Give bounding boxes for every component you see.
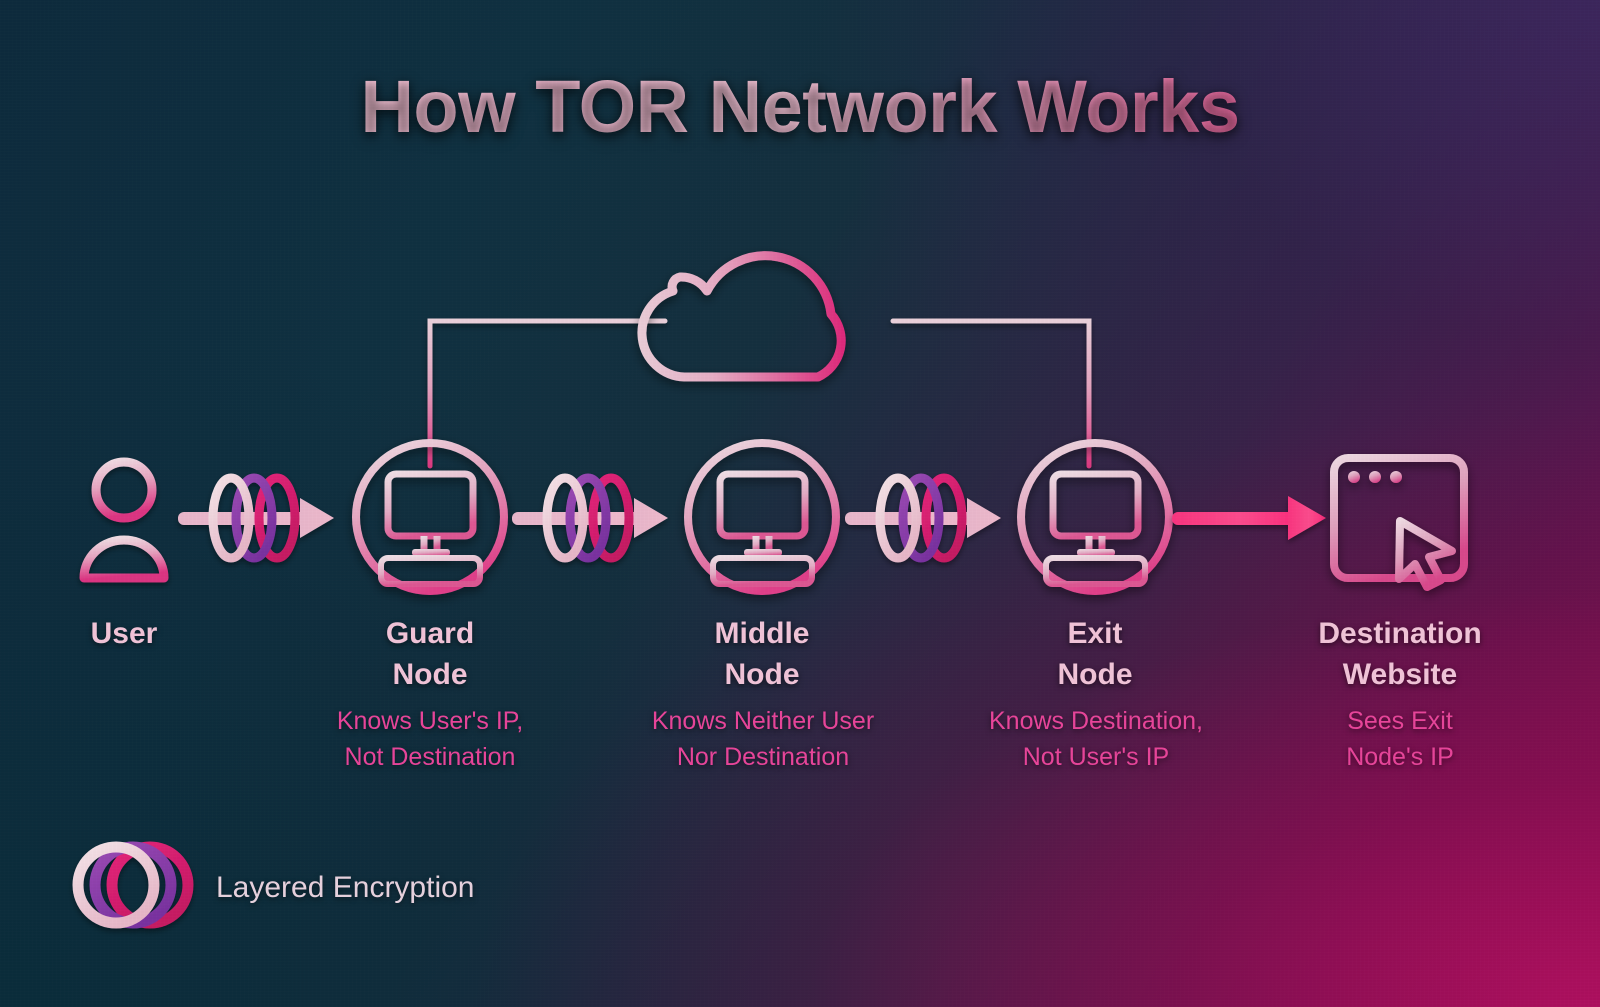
browser-dot-icon: [1348, 471, 1360, 483]
stage-label-guard-node: Guard Node: [300, 613, 560, 695]
stage-label-exit-node: Exit Node: [965, 613, 1225, 695]
stage-desc-middle-node: Knows Neither User Nor Destination: [604, 703, 922, 775]
stage-label-middle-node: Middle Node: [632, 613, 892, 695]
legend-icon-spacer: [78, 848, 196, 928]
legend: Layered Encryption: [78, 848, 475, 928]
browser-dot-icon: [1369, 471, 1381, 483]
stage-desc-guard-node: Knows User's IP, Not Destination: [280, 703, 580, 775]
person-icon: [84, 462, 164, 578]
encryption-arrow-user-to-guard: [178, 478, 334, 558]
browser-window-cursor-icon: [1334, 458, 1464, 587]
desktop-computer-icon: [1046, 474, 1145, 584]
stage-desc-destination-website: Sees Exit Node's IP: [1272, 703, 1528, 775]
exit-to-destination-arrow: [1172, 496, 1326, 540]
stage-label-destination-website: Destination Website: [1272, 613, 1528, 695]
desktop-computer-icon: [713, 474, 812, 584]
encryption-arrow-guard-to-middle: [512, 478, 668, 558]
node-exit[interactable]: [1021, 443, 1169, 591]
encryption-arrow-middle-to-exit: [845, 478, 1001, 558]
browser-dot-icon: [1390, 471, 1402, 483]
infographic-canvas: How TOR Network Works: [0, 0, 1600, 1007]
cloud-icon: [642, 256, 841, 377]
node-middle[interactable]: [688, 443, 836, 591]
legend-label: Layered Encryption: [216, 871, 475, 905]
stage-label-user: User: [24, 613, 224, 654]
desktop-computer-icon: [381, 474, 480, 584]
stage-desc-exit-node: Knows Destination, Not User's IP: [938, 703, 1254, 775]
